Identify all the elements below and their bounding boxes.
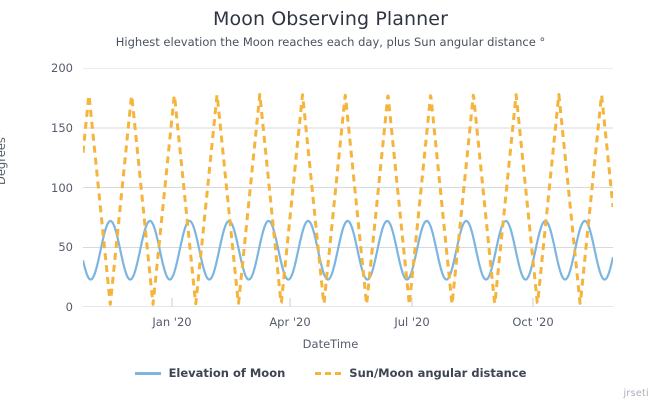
plot-area <box>83 68 613 307</box>
legend-item[interactable]: Sun/Moon angular distance <box>315 366 526 380</box>
watermark: jrseti <box>623 388 649 399</box>
x-axis-tick-label: Jul '20 <box>394 315 429 329</box>
x-axis-tick-label: Jan '20 <box>152 315 191 329</box>
legend-swatch-icon <box>135 372 161 375</box>
y-axis-tick-label: 150 <box>13 121 73 135</box>
y-axis-tick-label: 0 <box>13 300 73 314</box>
series-line-moon-elevation <box>83 221 613 280</box>
y-axis-tick-label: 200 <box>13 61 73 75</box>
series-line-sun-moon-distance <box>83 94 613 304</box>
plot-svg <box>83 68 613 307</box>
x-axis-title: DateTime <box>0 337 661 351</box>
legend-item[interactable]: Elevation of Moon <box>135 366 286 380</box>
chart-legend: Elevation of MoonSun/Moon angular distan… <box>0 366 661 380</box>
chart-title: Moon Observing Planner <box>0 8 661 30</box>
chart-subtitle: Highest elevation the Moon reaches each … <box>0 35 661 49</box>
y-axis-tick-label: 100 <box>13 181 73 195</box>
chart-container: Moon Observing Planner Highest elevation… <box>0 0 661 419</box>
y-axis-title: Degrees ° <box>0 128 8 185</box>
y-axis-tick-label: 50 <box>13 240 73 254</box>
legend-label: Sun/Moon angular distance <box>349 366 526 380</box>
x-axis-tick-label: Apr '20 <box>269 315 310 329</box>
x-axis-tick-label: Oct '20 <box>512 315 553 329</box>
legend-label: Elevation of Moon <box>169 366 286 380</box>
legend-swatch-icon <box>315 372 341 375</box>
